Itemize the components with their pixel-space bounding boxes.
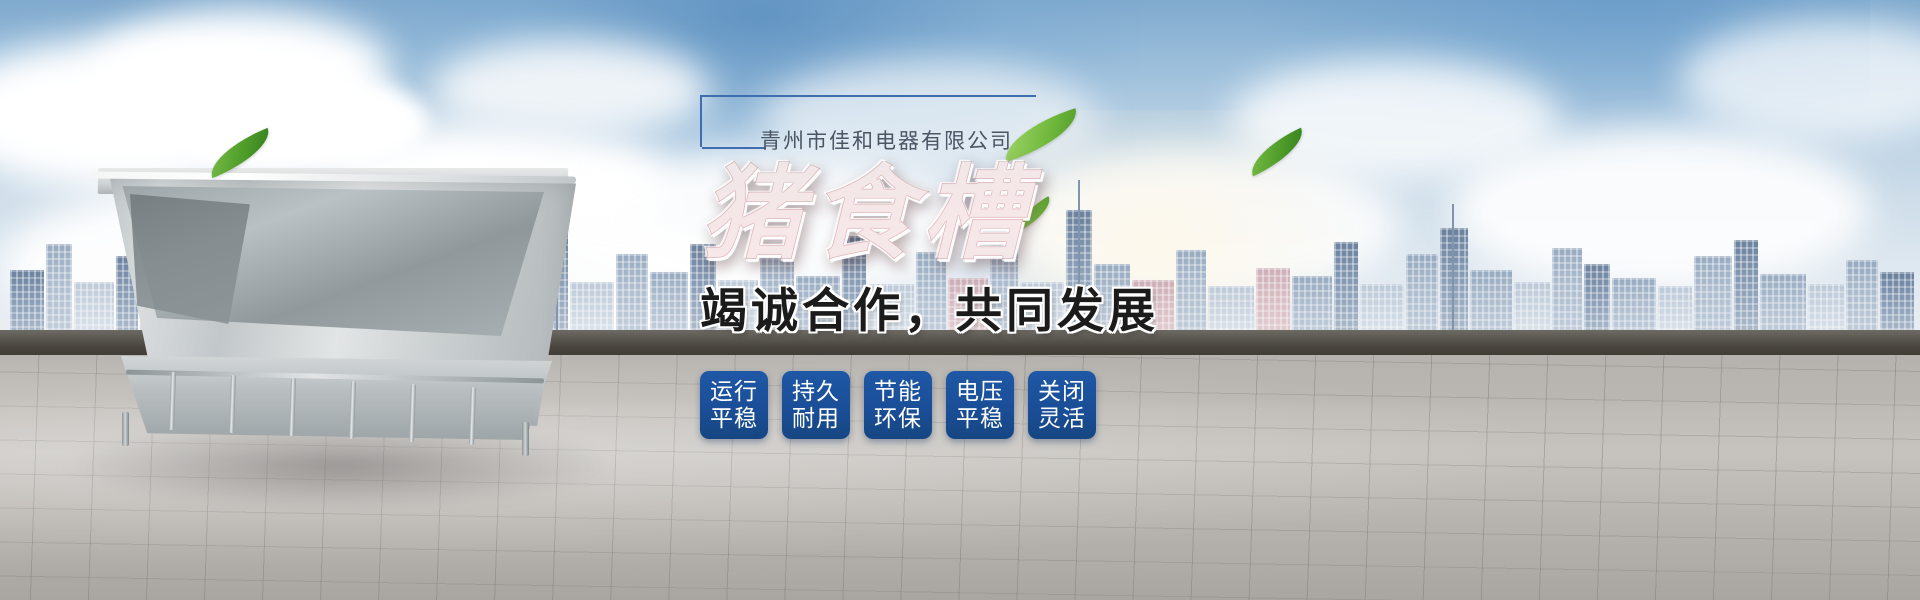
pig-feeding-trough-photo: [70, 160, 590, 460]
badge-line-2: 灵活: [1038, 405, 1086, 432]
badge-line-2: 环保: [874, 405, 922, 432]
badge-line-2: 平稳: [956, 405, 1004, 432]
feature-badge[interactable]: 节能 环保: [864, 371, 932, 439]
badge-line-1: 关闭: [1038, 378, 1086, 405]
company-name: 青州市佳和电器有限公司: [760, 125, 1013, 155]
feature-badge-list: 运行 平稳 持久 耐用 节能 环保 电压 平稳 关闭 灵活: [700, 371, 1260, 439]
badge-line-1: 节能: [874, 378, 922, 405]
slogan-text: 竭诚合作，共同发展: [700, 272, 1260, 341]
badge-line-1: 持久: [792, 378, 840, 405]
banner-text-content: 青州市佳和电器有限公司 猪食槽 竭诚合作，共同发展 运行 平稳 持久 耐用 节能…: [700, 95, 1260, 439]
feature-badge[interactable]: 关闭 灵活: [1028, 371, 1096, 439]
feature-badge[interactable]: 运行 平稳: [700, 371, 768, 439]
frame-border-right: [1008, 95, 1036, 97]
badge-line-2: 平稳: [710, 405, 758, 432]
cloud-icon: [430, 40, 710, 140]
promotional-banner: 青州市佳和电器有限公司 猪食槽 竭诚合作，共同发展 运行 平稳 持久 耐用 节能…: [0, 0, 1920, 600]
badge-line-1: 运行: [710, 378, 758, 405]
badge-line-1: 电压: [956, 378, 1004, 405]
feature-badge[interactable]: 电压 平稳: [946, 371, 1014, 439]
badge-line-2: 耐用: [792, 405, 840, 432]
page-title: 猪食槽: [700, 161, 1260, 266]
feature-badge[interactable]: 持久 耐用: [782, 371, 850, 439]
company-name-frame: 青州市佳和电器有限公司: [700, 95, 1260, 157]
